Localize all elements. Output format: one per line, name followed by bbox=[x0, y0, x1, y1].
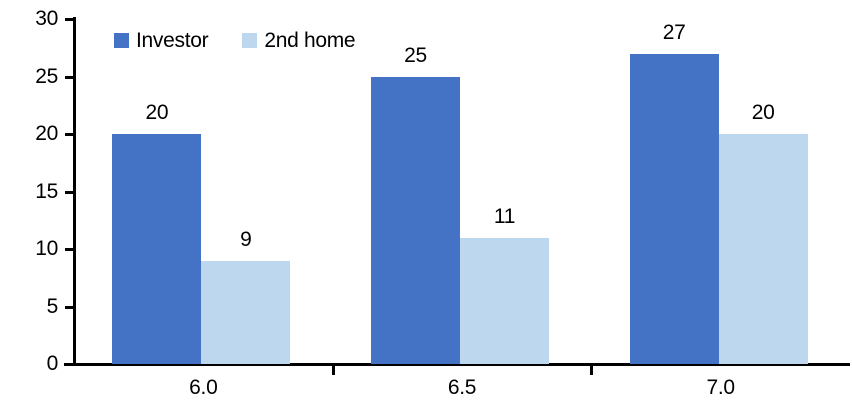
legend-swatch-icon bbox=[242, 33, 257, 48]
bar-value-label: 25 bbox=[371, 45, 460, 66]
legend-entry[interactable]: Investor bbox=[114, 30, 208, 51]
legend-label: 2nd home bbox=[264, 30, 355, 51]
x-axis-tick-label: 7.0 bbox=[591, 377, 850, 398]
bar-value-label: 9 bbox=[201, 229, 290, 250]
bar bbox=[630, 54, 719, 365]
bar-value-label: 11 bbox=[460, 206, 549, 227]
bar bbox=[371, 77, 460, 365]
y-axis-tick-label: 20 bbox=[12, 123, 58, 144]
y-axis-tick-label: 10 bbox=[12, 238, 58, 259]
bar-value-label: 20 bbox=[719, 102, 808, 123]
x-axis-tick-mark bbox=[332, 364, 335, 375]
y-axis-tick-label: 25 bbox=[12, 66, 58, 87]
bar-chart: 051015202530 20925112720 6.06.57.0 Inves… bbox=[0, 0, 852, 410]
y-axis-tick-label: 0 bbox=[12, 353, 58, 374]
y-axis-tick-label: 5 bbox=[12, 296, 58, 317]
bar bbox=[201, 261, 290, 365]
y-axis-tick-label: 30 bbox=[12, 8, 58, 29]
bar bbox=[112, 134, 201, 364]
plot-area: 20925112720 bbox=[74, 19, 850, 364]
legend-label: Investor bbox=[136, 30, 208, 51]
bar-value-label: 20 bbox=[112, 102, 201, 123]
bar bbox=[460, 238, 549, 365]
legend-entry[interactable]: 2nd home bbox=[242, 30, 355, 51]
x-axis-tick-label: 6.5 bbox=[333, 377, 592, 398]
x-axis-tick-label: 6.0 bbox=[74, 377, 333, 398]
y-axis-tick-label: 15 bbox=[12, 181, 58, 202]
legend-swatch-icon bbox=[114, 33, 129, 48]
bar bbox=[719, 134, 808, 364]
x-axis-tick-mark bbox=[590, 364, 593, 375]
chart-legend: Investor2nd home bbox=[114, 30, 355, 51]
bar-value-label: 27 bbox=[630, 22, 719, 43]
